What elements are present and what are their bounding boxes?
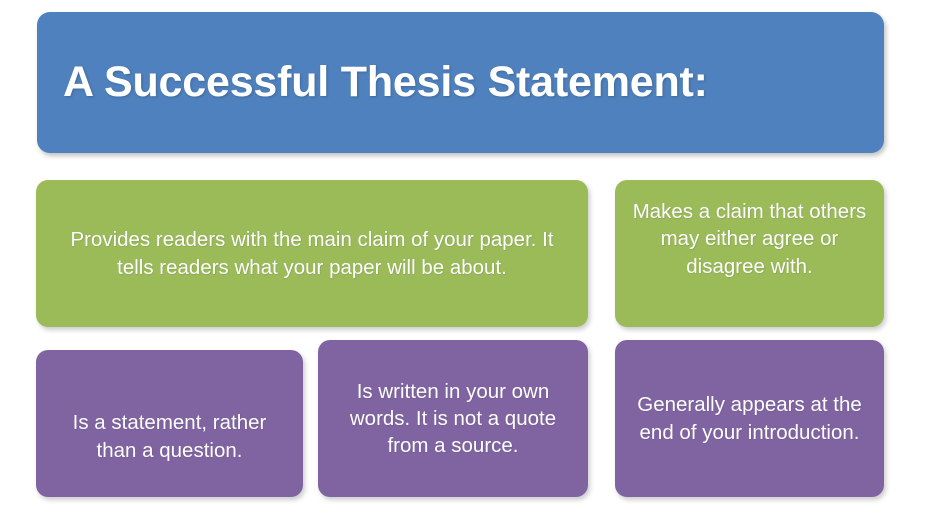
criteria-card-end-of-introduction: Generally appears at the end of your int… [615, 340, 884, 497]
criteria-card-text: Makes a claim that others may either agr… [629, 198, 870, 280]
slide-canvas: A Successful Thesis Statement: Provides … [0, 0, 935, 518]
criteria-card-text: Is a statement, rather than a question. [50, 409, 289, 464]
criteria-card-provides-main-claim: Provides readers with the main claim of … [36, 180, 588, 327]
title-banner: A Successful Thesis Statement: [37, 12, 884, 153]
criteria-card-text: Is written in your own words. It is not … [332, 378, 574, 460]
criteria-card-makes-arguable-claim: Makes a claim that others may either agr… [615, 180, 884, 327]
criteria-card-text: Generally appears at the end of your int… [629, 391, 870, 446]
criteria-card-text: Provides readers with the main claim of … [50, 226, 574, 281]
criteria-card-own-words-not-quote: Is written in your own words. It is not … [318, 340, 588, 497]
page-title: A Successful Thesis Statement: [63, 60, 708, 105]
criteria-card-statement-not-question: Is a statement, rather than a question. [36, 350, 303, 497]
